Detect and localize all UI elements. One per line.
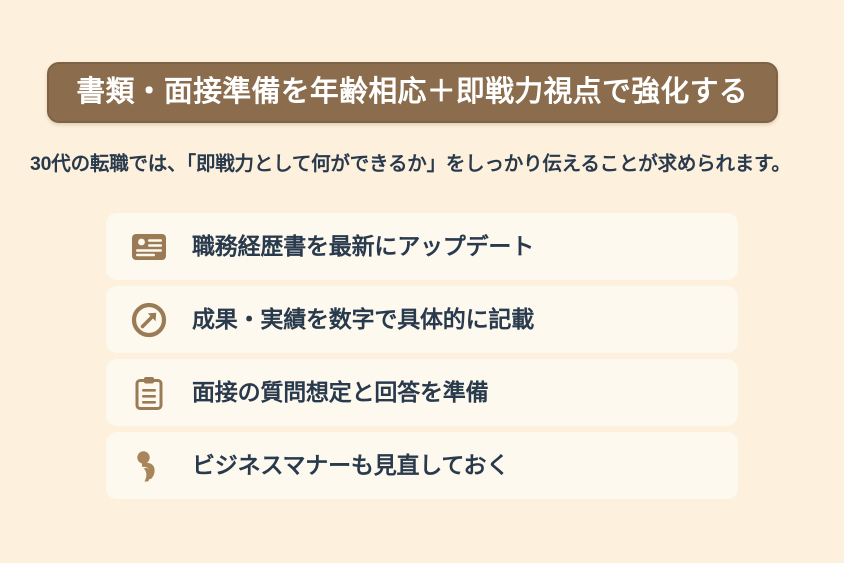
list-item[interactable]: 職務経歴書を最新にアップデート (106, 213, 738, 280)
checklist: 職務経歴書を最新にアップデート 成果・実績を数字で具体的に記載 (106, 213, 738, 499)
bowing-person-icon (106, 432, 192, 499)
list-item[interactable]: 面接の質問想定と回答を準備 (106, 359, 738, 426)
list-item-label: 成果・実績を数字で具体的に記載 (192, 306, 534, 334)
list-item-label: 面接の質問想定と回答を準備 (192, 379, 488, 407)
title-banner: 書類・面接準備を年齢相応＋即戦力視点で強化する (47, 62, 778, 123)
clipboard-icon (106, 359, 192, 426)
document-card-icon (106, 213, 192, 280)
circle-arrow-up-right-icon (106, 286, 192, 353)
list-item[interactable]: ビジネスマナーも見直しておく (106, 432, 738, 499)
list-item-label: 職務経歴書を最新にアップデート (192, 233, 534, 261)
list-item-label: ビジネスマナーも見直しておく (192, 452, 509, 480)
list-item[interactable]: 成果・実績を数字で具体的に記載 (106, 286, 738, 353)
slide-root: 書類・面接準備を年齢相応＋即戦力視点で強化する 30代の転職では、「即戦力として… (0, 0, 844, 563)
page-title: 書類・面接準備を年齢相応＋即戦力視点で強化する (77, 78, 749, 107)
subtitle-text: 30代の転職では、「即戦力として何ができるか」をしっかり伝えることが求められます… (30, 152, 820, 177)
